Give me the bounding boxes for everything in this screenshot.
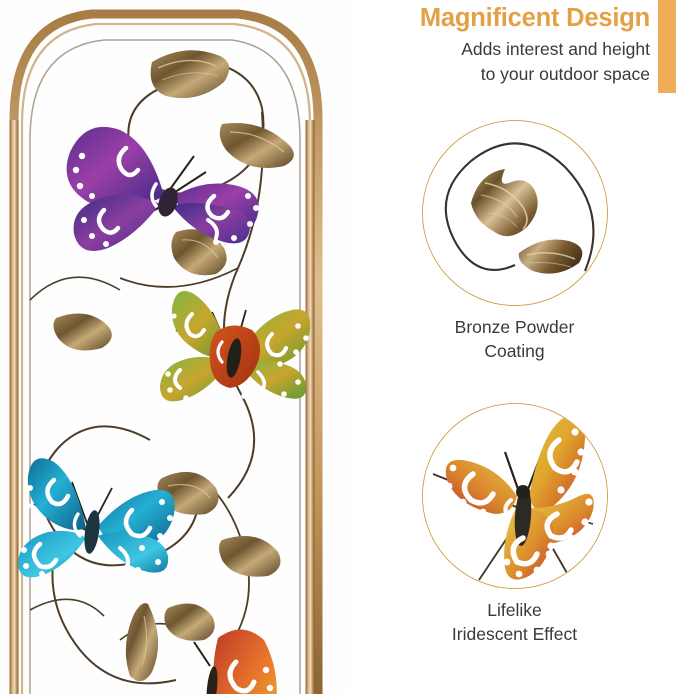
feature-2-circle-wrap bbox=[422, 403, 608, 589]
headline-block: Magnificent Design Adds interest and hei… bbox=[350, 0, 679, 100]
right-panel: Magnificent Design Adds interest and hei… bbox=[350, 0, 679, 694]
feature-1-caption: Bronze Powder Coating bbox=[350, 315, 679, 363]
headline-subtitle-line-2: to your outdoor space bbox=[350, 62, 650, 87]
feature-1-detail-circle bbox=[422, 120, 608, 306]
feature-2-caption: Lifelike Iridescent Effect bbox=[350, 598, 679, 646]
feature-bronze-powder-coating: Bronze Powder Coating bbox=[350, 120, 679, 363]
feature-2-detail-circle bbox=[422, 403, 608, 589]
feature-1-caption-line-1: Bronze Powder bbox=[350, 315, 679, 339]
feature-lifelike-iridescent-effect: Lifelike Iridescent Effect bbox=[350, 403, 679, 646]
feature-2-caption-line-1: Lifelike bbox=[350, 598, 679, 622]
accent-bar bbox=[658, 0, 676, 93]
feature-2-caption-line-2: Iridescent Effect bbox=[350, 622, 679, 646]
headline-text-wrap: Magnificent Design Adds interest and hei… bbox=[350, 0, 650, 87]
feature-1-caption-line-2: Coating bbox=[350, 339, 679, 363]
product-photo bbox=[0, 0, 350, 694]
marketing-infographic: Magnificent Design Adds interest and hei… bbox=[0, 0, 679, 694]
feature-1-circle-wrap bbox=[422, 120, 608, 306]
headline-subtitle-line-1: Adds interest and height bbox=[350, 37, 650, 62]
page-title: Magnificent Design bbox=[350, 3, 650, 33]
